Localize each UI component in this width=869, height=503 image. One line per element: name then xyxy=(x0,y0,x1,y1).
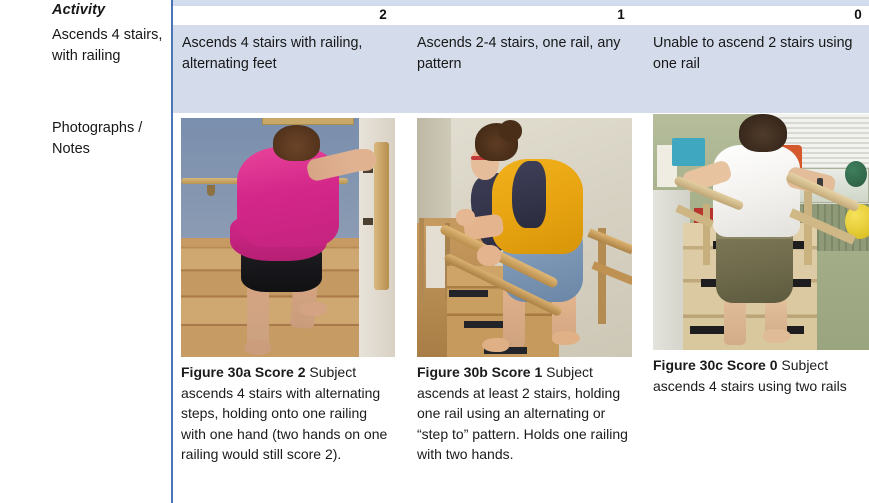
figure-id-score-1: Figure 30b Score 1 xyxy=(417,364,542,380)
cell-score-1: Figure 30b Score 1 Subject ascends at le… xyxy=(417,118,632,465)
label-column: Activity Ascends 4 stairs, with railing … xyxy=(0,0,171,503)
criteria-band: Ascends 4 stairs with railing, alternati… xyxy=(173,25,869,113)
activity-description: Ascends 4 stairs, with railing xyxy=(52,25,164,67)
caption-score-1: Figure 30b Score 1 Subject ascends at le… xyxy=(417,362,632,465)
criteria-score-0: Unable to ascend 2 stairs using one rail xyxy=(653,33,863,75)
cell-score-0: Figure 30c Score 0 Subject ascends 4 sta… xyxy=(653,114,869,396)
score-header-2: 2 xyxy=(353,7,413,22)
criteria-score-1: Ascends 2-4 stairs, one rail, any patter… xyxy=(417,33,639,75)
caption-score-2: Figure 30a Score 2 Subject ascends 4 sta… xyxy=(181,362,395,465)
cell-score-2: Figure 30a Score 2 Subject ascends 4 sta… xyxy=(181,118,395,465)
score-header-0: 0 xyxy=(828,7,869,22)
caption-score-0: Figure 30c Score 0 Subject ascends 4 sta… xyxy=(653,355,869,396)
scoring-rubric-table: Activity Ascends 4 stairs, with railing … xyxy=(0,0,869,503)
figure-id-score-0: Figure 30c Score 0 xyxy=(653,357,778,373)
activity-heading: Activity xyxy=(52,2,105,18)
criteria-score-2: Ascends 4 stairs with railing, alternati… xyxy=(182,33,412,75)
photographs-notes-label: Photographs / Notes xyxy=(52,118,172,160)
photo-score-2 xyxy=(181,118,395,357)
photo-score-1 xyxy=(417,118,632,357)
figure-id-score-2: Figure 30a Score 2 xyxy=(181,364,306,380)
score-header-row: 2 1 0 xyxy=(173,6,869,25)
score-header-1: 1 xyxy=(591,7,651,22)
photo-score-0 xyxy=(653,114,869,350)
